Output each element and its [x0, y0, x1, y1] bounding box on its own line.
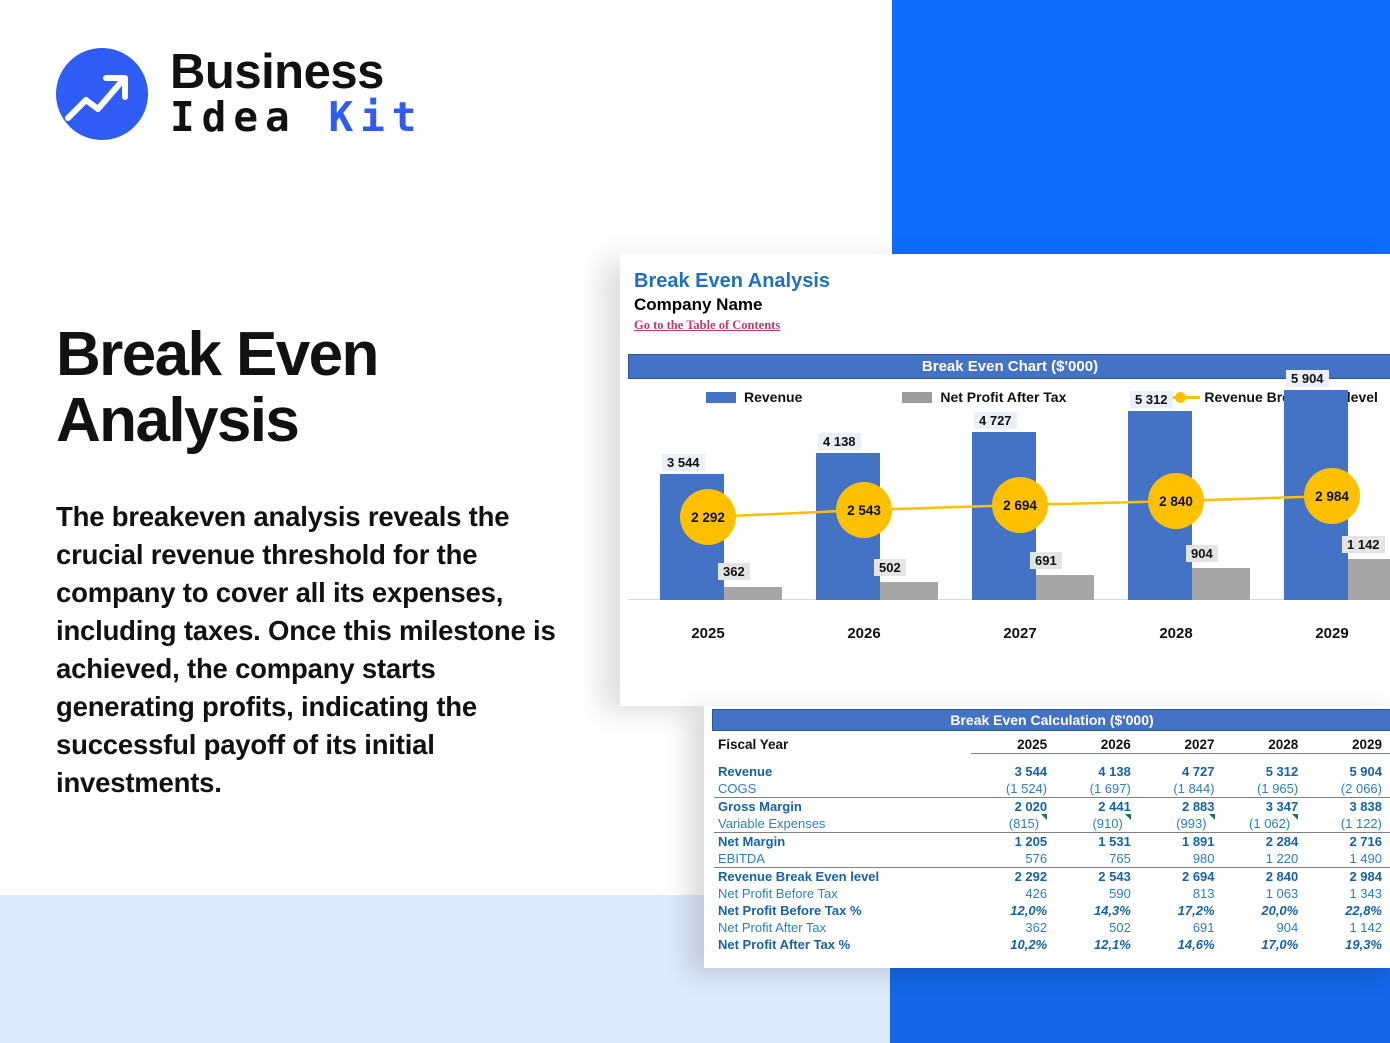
background-block-bottom-right	[890, 968, 1390, 1043]
table-spacer	[714, 754, 1390, 763]
growth-arrow-icon	[56, 48, 148, 140]
column-header-2025: 2025	[971, 736, 1055, 754]
comment-flag-icon	[1209, 814, 1215, 820]
cell-npat-pct-2026: 12,1%	[1055, 936, 1139, 953]
bar-label-net-profit-2029: 1 142	[1342, 536, 1385, 553]
logo-text-kit: Kit	[328, 93, 423, 141]
bar-label-net-profit-2025: 362	[718, 563, 750, 580]
table-row: Variable Expenses (815) (910) (993) (1 0…	[714, 815, 1390, 833]
logo-text-business: Business	[170, 48, 424, 96]
table-header-row: Fiscal Year 2025 2026 2027 2028 2029	[714, 736, 1390, 754]
bar-net-profit-2028	[1192, 568, 1250, 600]
row-label-variable-expenses: Variable Expenses	[714, 815, 971, 833]
cell-npat-pct-2025: 10,2%	[971, 936, 1055, 953]
cell-variable-expenses-2025: (815)	[971, 815, 1055, 833]
row-label-revenue: Revenue	[714, 763, 971, 780]
cell-revenue-2025: 3 544	[971, 763, 1055, 780]
break-even-node-2028: 2 840	[1148, 473, 1204, 529]
cell-cogs-2026: (1 697)	[1055, 780, 1139, 798]
page-title: Break Even Analysis	[56, 322, 576, 453]
cell-npbt-pct-2025: 12,0%	[971, 902, 1055, 919]
cell-net-margin-2029: 2 716	[1306, 832, 1390, 850]
calculation-title-bar: Break Even Calculation ($'000)	[712, 709, 1390, 731]
column-header-2028: 2028	[1223, 736, 1307, 754]
brand-logo: Business Idea Kit	[56, 48, 424, 140]
comment-flag-icon	[1041, 814, 1047, 820]
row-label-gross-margin: Gross Margin	[714, 797, 971, 815]
x-axis-label-2027: 2027	[944, 625, 1096, 642]
sheet-company-name: Company Name	[634, 295, 762, 315]
cell-npat-2028: 904	[1223, 919, 1307, 936]
page-description: The breakeven analysis reveals the cruci…	[56, 498, 556, 802]
column-header-2029: 2029	[1306, 736, 1390, 754]
legend-swatch-revenue-icon	[706, 392, 736, 403]
cell-npbt-2029: 1 343	[1306, 885, 1390, 902]
legend-item-revenue: Revenue	[706, 389, 802, 405]
cell-cogs-2027: (1 844)	[1139, 780, 1223, 798]
column-header-2026: 2026	[1055, 736, 1139, 754]
bar-label-net-profit-2028: 904	[1186, 545, 1218, 562]
column-header-fiscal-year: Fiscal Year	[714, 736, 971, 754]
table-row: Revenue Break Even level 2 292 2 543 2 6…	[714, 867, 1390, 885]
table-row: Gross Margin 2 020 2 441 2 883 3 347 3 8…	[714, 797, 1390, 815]
table-row: EBITDA 576 765 980 1 220 1 490	[714, 850, 1390, 868]
cell-npbt-2028: 1 063	[1223, 885, 1307, 902]
cell-revenue-2029: 5 904	[1306, 763, 1390, 780]
chart-plot-area: 3 544 362 2025 4 138 502 2026 4 727 691 …	[628, 414, 1390, 654]
row-label-net-margin: Net Margin	[714, 832, 971, 850]
x-axis-label-2029: 2029	[1256, 625, 1390, 642]
cell-npat-pct-2028: 17,0%	[1223, 936, 1307, 953]
cell-revenue-2027: 4 727	[1139, 763, 1223, 780]
legend-label-revenue: Revenue	[744, 389, 802, 405]
break-even-node-2026: 2 543	[836, 482, 892, 538]
cell-net-margin-2026: 1 531	[1055, 832, 1139, 850]
cell-variable-expenses-2026: (910)	[1055, 815, 1139, 833]
cell-cogs-2029: (2 066)	[1306, 780, 1390, 798]
bar-label-revenue-2027: 4 727	[974, 412, 1017, 429]
cell-variable-expenses-2029: (1 122)	[1306, 815, 1390, 833]
break-even-node-2027: 2 694	[992, 477, 1048, 533]
bar-label-revenue-2028: 5 312	[1130, 391, 1173, 408]
table-row: Net Profit Before Tax 426 590 813 1 063 …	[714, 885, 1390, 902]
cell-break-even-2025: 2 292	[971, 867, 1055, 885]
cell-npbt-pct-2028: 20,0%	[1223, 902, 1307, 919]
x-axis-label-2028: 2028	[1100, 625, 1252, 642]
chart-legend: Revenue Net Profit After Tax Revenue Bre…	[628, 384, 1390, 410]
row-label-revenue-break-even-level: Revenue Break Even level	[714, 867, 971, 885]
table-row: COGS (1 524) (1 697) (1 844) (1 965) (2 …	[714, 780, 1390, 798]
cell-npbt-pct-2027: 17,2%	[1139, 902, 1223, 919]
table-row: Net Margin 1 205 1 531 1 891 2 284 2 716	[714, 832, 1390, 850]
table-of-contents-link[interactable]: Go to the Table of Contents	[634, 318, 780, 333]
cell-break-even-2029: 2 984	[1306, 867, 1390, 885]
row-label-net-profit-before-tax: Net Profit Before Tax	[714, 885, 971, 902]
sheet-title: Break Even Analysis	[634, 270, 830, 293]
cell-net-margin-2027: 1 891	[1139, 832, 1223, 850]
table-row: Net Profit Before Tax % 12,0% 14,3% 17,2…	[714, 902, 1390, 919]
cell-ebitda-2026: 765	[1055, 850, 1139, 868]
cell-npat-pct-2027: 14,6%	[1139, 936, 1223, 953]
logo-text-idea: Idea	[170, 93, 297, 141]
cell-cogs-2028: (1 965)	[1223, 780, 1307, 798]
cell-gross-margin-2029: 3 838	[1306, 797, 1390, 815]
break-even-calculation-table: Fiscal Year 2025 2026 2027 2028 2029 Rev…	[714, 736, 1390, 953]
cell-npbt-pct-2026: 14,3%	[1055, 902, 1139, 919]
bar-net-profit-2029	[1348, 559, 1390, 600]
bar-net-profit-2025	[724, 587, 782, 600]
bar-label-net-profit-2026: 502	[874, 559, 906, 576]
cell-ebitda-2029: 1 490	[1306, 850, 1390, 868]
row-label-net-profit-after-tax: Net Profit After Tax	[714, 919, 971, 936]
bar-label-revenue-2029: 5 904	[1286, 370, 1329, 387]
calculation-panel: Break Even Calculation ($'000) Fiscal Ye…	[704, 706, 1390, 968]
cell-net-margin-2025: 1 205	[971, 832, 1055, 850]
cell-break-even-2028: 2 840	[1223, 867, 1307, 885]
cell-npbt-2027: 813	[1139, 885, 1223, 902]
cell-npat-2025: 362	[971, 919, 1055, 936]
bar-net-profit-2026	[880, 582, 938, 600]
cell-gross-margin-2026: 2 441	[1055, 797, 1139, 815]
table-row: Revenue 3 544 4 138 4 727 5 312 5 904	[714, 763, 1390, 780]
comment-flag-icon	[1292, 814, 1298, 820]
cell-revenue-2028: 5 312	[1223, 763, 1307, 780]
row-label-net-profit-before-tax-pct: Net Profit Before Tax %	[714, 902, 971, 919]
cell-net-margin-2028: 2 284	[1223, 832, 1307, 850]
cell-gross-margin-2028: 3 347	[1223, 797, 1307, 815]
cell-ebitda-2027: 980	[1139, 850, 1223, 868]
chart-title-bar: Break Even Chart ($'000)	[628, 354, 1390, 379]
cell-ebitda-2028: 1 220	[1223, 850, 1307, 868]
break-even-node-2025: 2 292	[680, 489, 736, 545]
cell-npbt-2025: 426	[971, 885, 1055, 902]
x-axis-label-2025: 2025	[632, 625, 784, 642]
cell-cogs-2025: (1 524)	[971, 780, 1055, 798]
legend-swatch-net-profit-icon	[902, 392, 932, 403]
cell-break-even-2027: 2 694	[1139, 867, 1223, 885]
table-row: Net Profit After Tax % 10,2% 12,1% 14,6%…	[714, 936, 1390, 953]
column-header-2027: 2027	[1139, 736, 1223, 754]
cell-npat-2027: 691	[1139, 919, 1223, 936]
row-label-cogs: COGS	[714, 780, 971, 798]
cell-revenue-2026: 4 138	[1055, 763, 1139, 780]
cell-npat-2029: 1 142	[1306, 919, 1390, 936]
bar-net-profit-2027	[1036, 575, 1094, 600]
cell-npat-pct-2029: 19,3%	[1306, 936, 1390, 953]
legend-label-net-profit-after-tax: Net Profit After Tax	[940, 389, 1066, 405]
cell-npbt-2026: 590	[1055, 885, 1139, 902]
cell-ebitda-2025: 576	[971, 850, 1055, 868]
break-even-node-2029: 2 984	[1304, 468, 1360, 524]
bar-label-revenue-2025: 3 544	[662, 454, 705, 471]
bar-label-net-profit-2027: 691	[1030, 552, 1062, 569]
comment-flag-icon	[1125, 814, 1131, 820]
row-label-ebitda: EBITDA	[714, 850, 971, 868]
cell-variable-expenses-2027: (993)	[1139, 815, 1223, 833]
cell-gross-margin-2027: 2 883	[1139, 797, 1223, 815]
cell-break-even-2026: 2 543	[1055, 867, 1139, 885]
legend-item-net-profit-after-tax: Net Profit After Tax	[902, 389, 1066, 405]
table-row: Net Profit After Tax 362 502 691 904 1 1…	[714, 919, 1390, 936]
background-block-top-right	[892, 0, 1390, 262]
cell-gross-margin-2025: 2 020	[971, 797, 1055, 815]
bar-label-revenue-2026: 4 138	[818, 433, 861, 450]
cell-npat-2026: 502	[1055, 919, 1139, 936]
cell-variable-expenses-2028: (1 062)	[1223, 815, 1307, 833]
chart-panel: Break Even Analysis Company Name Go to t…	[620, 254, 1390, 706]
x-axis-label-2026: 2026	[788, 625, 940, 642]
row-label-net-profit-after-tax-pct: Net Profit After Tax %	[714, 936, 971, 953]
cell-npbt-pct-2029: 22,8%	[1306, 902, 1390, 919]
